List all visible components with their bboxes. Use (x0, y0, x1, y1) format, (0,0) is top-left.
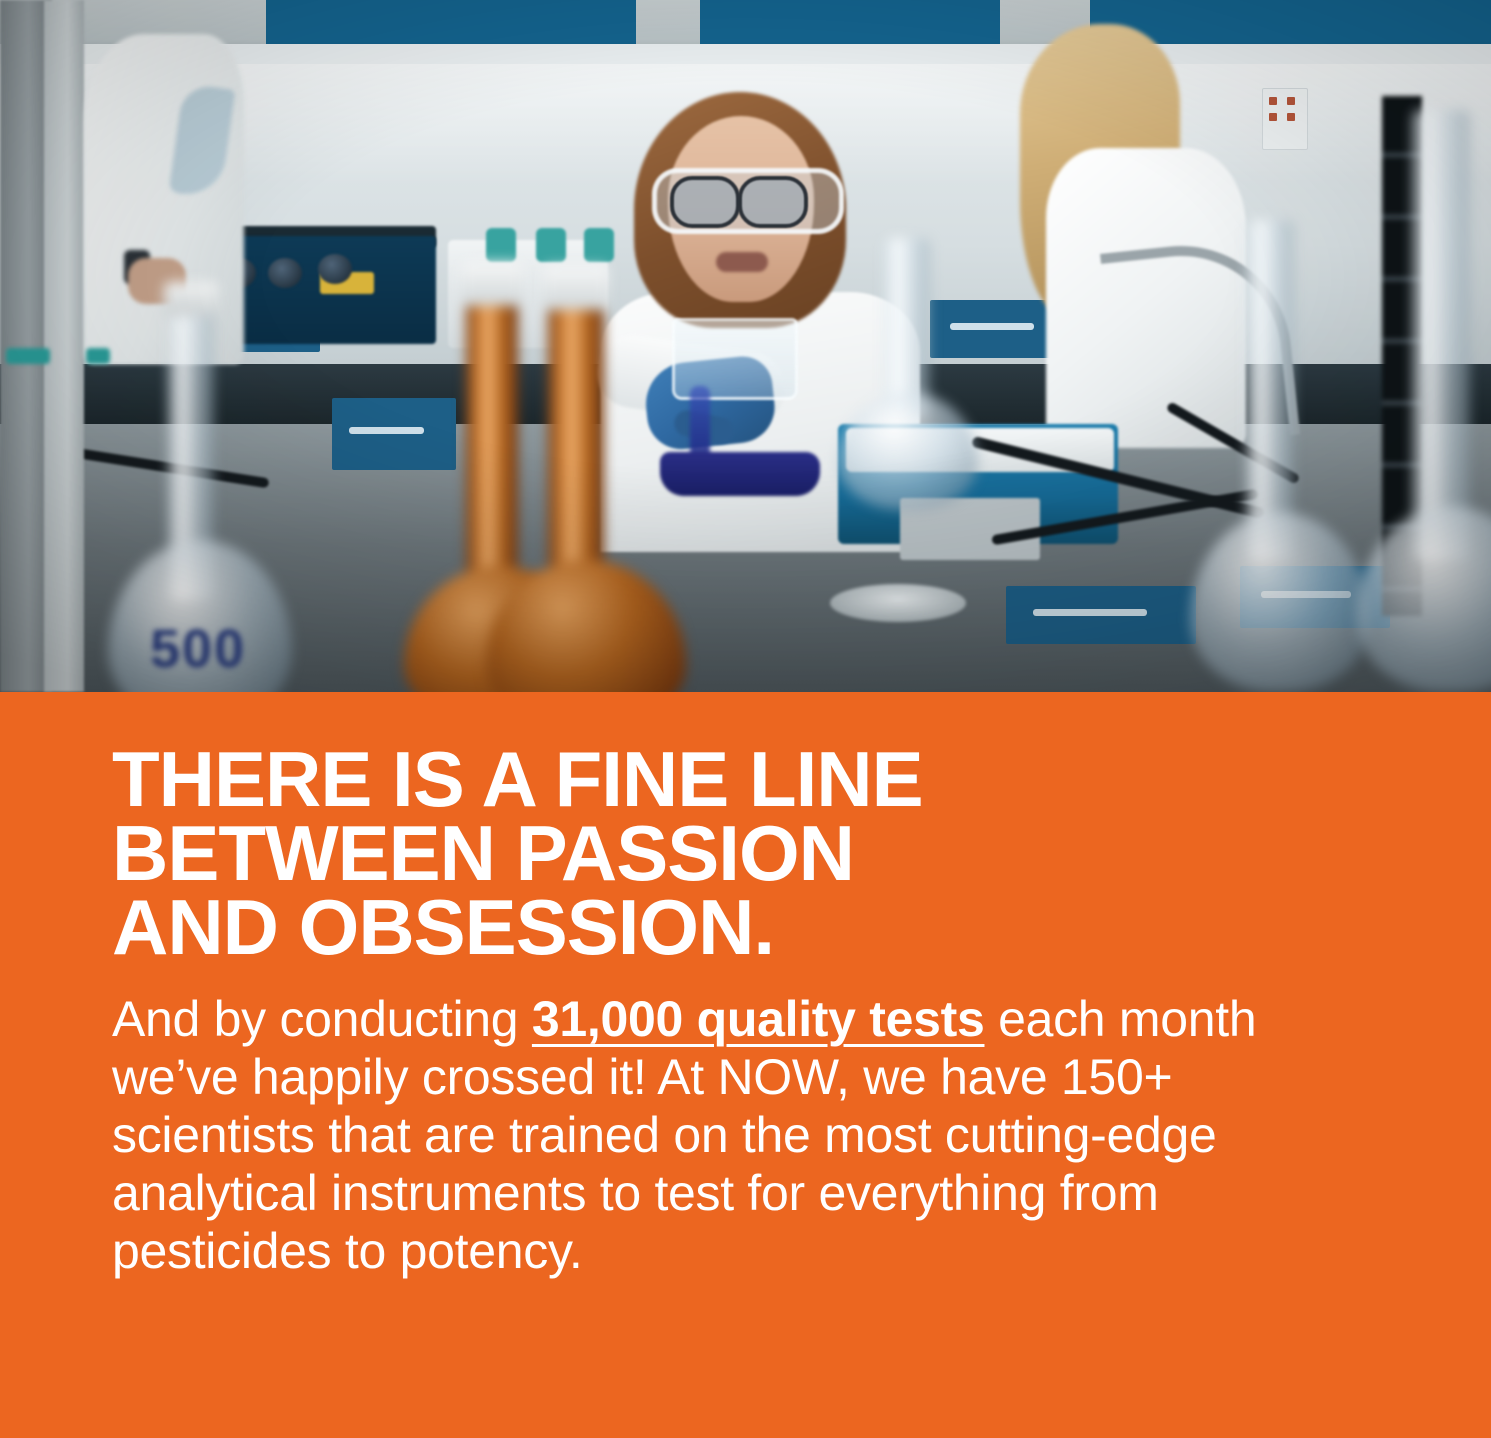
balance-weighing-pan (830, 584, 966, 622)
panel-content: THERE IS A FINE LINE BETWEEN PASSION AND… (112, 742, 1372, 1280)
glass-beaker (672, 318, 798, 400)
door-frame-inner (44, 0, 84, 692)
equipment-knob-b (268, 258, 302, 288)
scientist-left-labcoat (84, 34, 244, 364)
highlight-stat: 31,000 quality tests (532, 991, 985, 1047)
flask-teal-band-a (6, 348, 50, 364)
equipment-knob-c (318, 254, 352, 284)
body-paragraph: And by conducting 31,000 quality tests e… (112, 990, 1372, 1280)
blue-cabinet-top-left (266, 0, 636, 46)
blue-drawer-e (1006, 586, 1196, 644)
blue-cabinet-top-center (700, 0, 1000, 46)
equipment-cap-b (536, 228, 566, 262)
equipment-cap-a (486, 228, 516, 262)
flask-teal-band-b (86, 348, 110, 364)
eyeglass-lens-left (670, 176, 740, 228)
orange-text-panel: THERE IS A FINE LINE BETWEEN PASSION AND… (0, 692, 1491, 1438)
blue-liquid-sample (660, 452, 820, 496)
eyeglass-lens-right (738, 176, 808, 228)
flask-volume-label: 500 (150, 618, 284, 680)
page-title: THERE IS A FINE LINE BETWEEN PASSION AND… (112, 742, 1372, 964)
wall-control-panel (1262, 88, 1308, 150)
blue-drawer-b (332, 398, 456, 470)
marketing-hero-page: 500 THERE IS A FINE LINE BETWEEN PASS (0, 0, 1491, 1438)
body-text-before: And by conducting (112, 991, 532, 1047)
scientist-center-mouth (716, 252, 768, 272)
lab-photo: 500 (0, 0, 1491, 692)
